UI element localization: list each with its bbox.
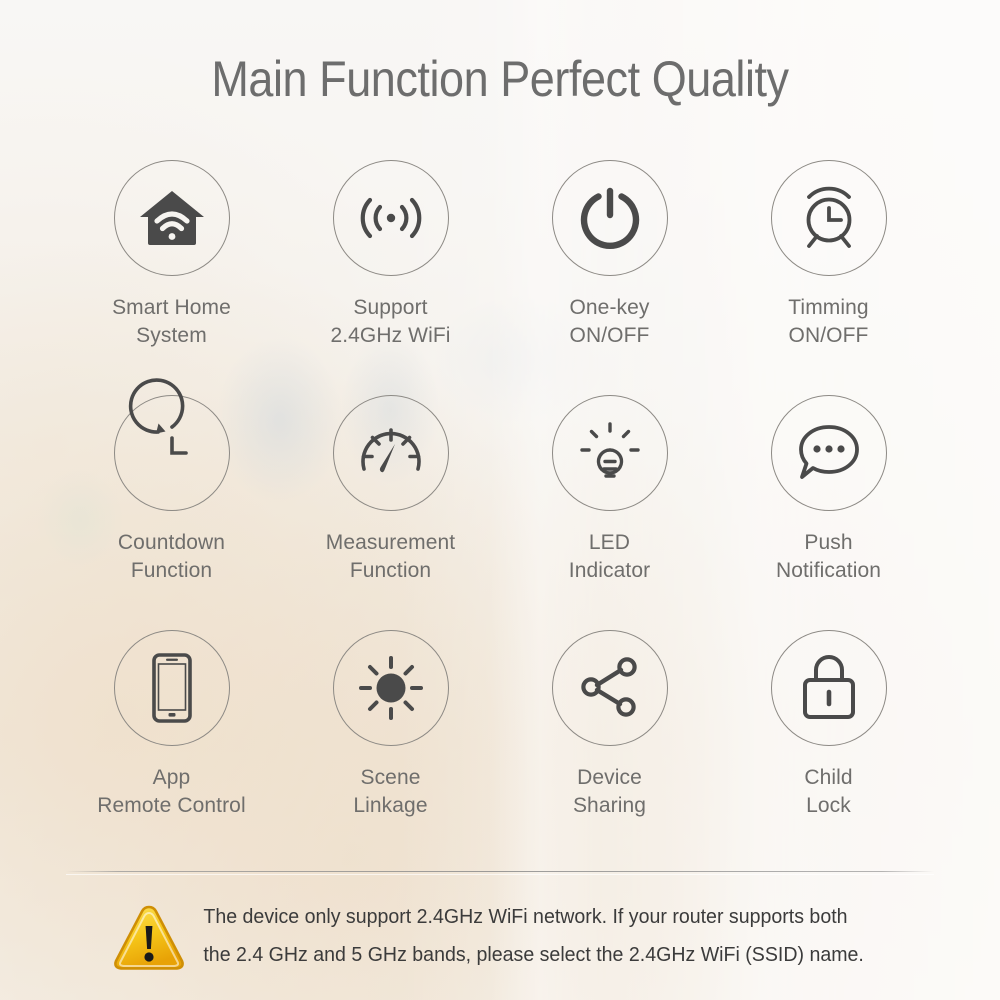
section-divider-shadow — [66, 874, 934, 875]
icon-badge — [114, 395, 230, 511]
icon-badge — [771, 160, 887, 276]
warning-triangle-icon — [112, 898, 190, 972]
gauge-meter-icon — [357, 422, 425, 484]
icon-badge — [333, 630, 449, 746]
feature-label: Child Lock — [804, 764, 852, 819]
feature-item-smart-home-system[interactable]: Smart Home System — [62, 160, 281, 395]
icon-badge — [552, 630, 668, 746]
feature-label: Smart Home System — [112, 294, 231, 349]
section-divider — [66, 871, 934, 872]
note-line-2: the 2.4 GHz and 5 GHz bands, please sele… — [203, 936, 863, 974]
page-title: Main Function Perfect Quality — [50, 52, 950, 107]
feature-item-support-24ghz-wifi[interactable]: Support 2.4GHz WiFi — [281, 160, 500, 395]
padlock-icon — [798, 654, 860, 722]
wifi-broadcast-icon — [357, 192, 425, 244]
icon-badge — [114, 630, 230, 746]
feature-label: Device Sharing — [573, 764, 646, 819]
feature-grid: Smart Home System Support — [62, 160, 938, 865]
icon-badge — [771, 630, 887, 746]
icon-badge — [333, 395, 449, 511]
icon-badge — [552, 395, 668, 511]
feature-item-timming-on-off[interactable]: Timming ON/OFF — [719, 160, 938, 395]
icon-badge — [552, 160, 668, 276]
compatibility-note-text: The device only support 2.4GHz WiFi netw… — [190, 898, 864, 974]
sun-icon — [358, 655, 424, 721]
feature-label: Countdown Function — [118, 529, 225, 584]
feature-item-scene-linkage[interactable]: Scene Linkage — [281, 630, 500, 865]
feature-label: Scene Linkage — [353, 764, 427, 819]
feature-item-app-remote-control[interactable]: App Remote Control — [62, 630, 281, 865]
icon-badge — [114, 160, 230, 276]
countdown-clock-icon — [139, 420, 205, 486]
alarm-clock-icon — [795, 184, 863, 252]
icon-badge — [333, 160, 449, 276]
feature-item-device-sharing[interactable]: Device Sharing — [500, 630, 719, 865]
feature-label: LED Indicator — [569, 529, 650, 584]
compatibility-note: The device only support 2.4GHz WiFi netw… — [112, 898, 902, 974]
smartphone-icon — [151, 653, 193, 723]
icon-badge — [771, 395, 887, 511]
feature-item-led-indicator[interactable]: LED Indicator — [500, 395, 719, 630]
power-icon — [577, 185, 643, 251]
feature-label: Timming ON/OFF — [788, 294, 868, 349]
lightbulb-icon — [578, 420, 642, 486]
share-nodes-icon — [577, 657, 643, 719]
speech-bubble-icon — [795, 422, 863, 484]
smart-home-wifi-icon — [136, 187, 208, 249]
feature-item-child-lock[interactable]: Child Lock — [719, 630, 938, 865]
feature-item-measurement-function[interactable]: Measurement Function — [281, 395, 500, 630]
feature-item-push-notification[interactable]: Push Notification — [719, 395, 938, 630]
feature-item-countdown-function[interactable]: Countdown Function — [62, 395, 281, 630]
feature-item-one-key-on-off[interactable]: One-key ON/OFF — [500, 160, 719, 395]
feature-label: App Remote Control — [97, 764, 245, 819]
note-line-1: The device only support 2.4GHz WiFi netw… — [203, 898, 863, 936]
feature-label: Measurement Function — [326, 529, 456, 584]
feature-label: Support 2.4GHz WiFi — [330, 294, 450, 349]
feature-label: One-key ON/OFF — [569, 294, 649, 349]
promo-feature-panel: Main Function Perfect Quality Smart Home — [0, 0, 1000, 1000]
feature-label: Push Notification — [776, 529, 881, 584]
